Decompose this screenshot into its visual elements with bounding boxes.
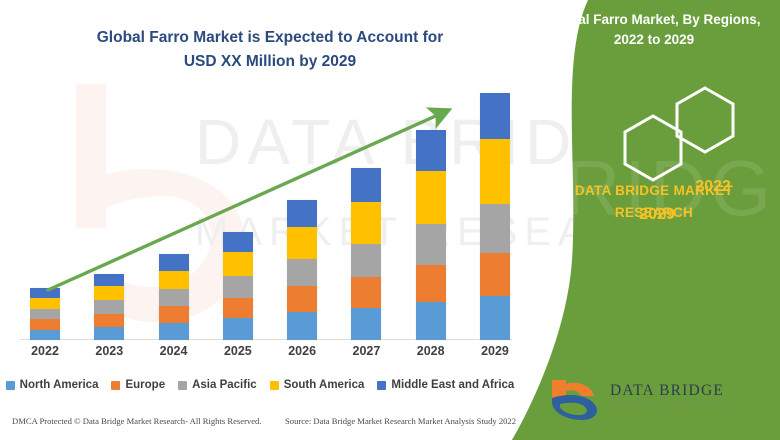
bar-segment[interactable] <box>351 202 381 243</box>
bar-segment[interactable] <box>351 168 381 203</box>
x-tick-2022: 2022 <box>30 344 60 366</box>
bar-segment[interactable] <box>159 254 189 270</box>
legend-swatch-icon <box>6 381 15 390</box>
bar-segment[interactable] <box>287 200 317 227</box>
footer-copyright: DMCA Protected © Data Bridge Market Rese… <box>12 416 262 426</box>
chart-title-line2: USD XX Million by 2029 <box>184 53 356 70</box>
bar-segment[interactable] <box>287 259 317 286</box>
x-axis-labels: 20222023202420252026202720282029 <box>30 344 510 366</box>
bar-segment[interactable] <box>416 171 446 224</box>
bar-segment[interactable] <box>94 274 124 286</box>
infographic-root: DATA BRIDGE MARKET RESEARCH BRIDGE Globa… <box>0 0 780 440</box>
bar-segment[interactable] <box>223 298 253 319</box>
legend-item[interactable]: Middle East and Africa <box>377 379 514 391</box>
legend-swatch-icon <box>111 381 120 390</box>
bar-segment[interactable] <box>30 288 60 298</box>
legend-label: North America <box>20 379 99 391</box>
bar-segment[interactable] <box>223 252 253 276</box>
hexagon-group: 2022 2029 <box>605 78 755 188</box>
data-bridge-logo: DATA BRIDGE MARKET RESEARCH <box>548 378 728 424</box>
logo-wordmark: DATA BRIDGE <box>610 382 724 400</box>
green-panel: Global Farro Market, By Regions, 2022 to… <box>520 0 780 440</box>
x-tick-2024: 2024 <box>159 344 189 366</box>
logo-b-icon <box>548 378 606 422</box>
legend-item[interactable]: Asia Pacific <box>178 379 257 391</box>
legend-swatch-icon <box>377 381 386 390</box>
legend-item[interactable]: South America <box>270 379 365 391</box>
footer: DMCA Protected © Data Bridge Market Rese… <box>0 416 540 436</box>
bar-2023[interactable] <box>94 274 124 340</box>
bar-segment[interactable] <box>94 327 124 340</box>
x-tick-2027: 2027 <box>351 344 381 366</box>
bar-2024[interactable] <box>159 254 189 340</box>
bar-segment[interactable] <box>480 204 510 254</box>
bar-2026[interactable] <box>287 200 317 340</box>
logo-subtitle: MARKET RESEARCH <box>611 401 725 409</box>
legend-label: Middle East and Africa <box>391 379 514 391</box>
bar-segment[interactable] <box>159 289 189 306</box>
bar-segment[interactable] <box>480 139 510 204</box>
legend-label: Europe <box>125 379 165 391</box>
bar-2025[interactable] <box>223 232 253 340</box>
bar-segment[interactable] <box>287 286 317 312</box>
x-tick-2023: 2023 <box>94 344 124 366</box>
chart-panel: Global Farro Market is Expected to Accou… <box>0 0 540 440</box>
bar-segment[interactable] <box>416 265 446 302</box>
legend-label: South America <box>284 379 365 391</box>
green-panel-title-line1: Global Farro Market, By Regions, <box>547 12 760 27</box>
bar-group <box>30 80 510 340</box>
bar-segment[interactable] <box>416 224 446 265</box>
bar-segment[interactable] <box>480 296 510 340</box>
bar-2029[interactable] <box>480 93 510 340</box>
chart-title: Global Farro Market is Expected to Accou… <box>60 26 480 74</box>
bar-segment[interactable] <box>159 323 189 340</box>
chart-legend: North AmericaEuropeAsia PacificSouth Ame… <box>0 374 520 396</box>
bar-segment[interactable] <box>94 300 124 314</box>
bar-segment[interactable] <box>30 319 60 330</box>
legend-label: Asia Pacific <box>192 379 257 391</box>
x-tick-2026: 2026 <box>287 344 317 366</box>
legend-swatch-icon <box>178 381 187 390</box>
bar-2022[interactable] <box>30 288 60 340</box>
hex-2022-shape <box>677 88 733 152</box>
bar-segment[interactable] <box>416 130 446 171</box>
bar-segment[interactable] <box>94 314 124 327</box>
bar-segment[interactable] <box>94 286 124 300</box>
bar-segment[interactable] <box>159 271 189 289</box>
brand-line2: RESEARCH <box>615 205 693 220</box>
legend-item[interactable]: North America <box>6 379 99 391</box>
plot-area <box>0 80 540 340</box>
bar-segment[interactable] <box>351 308 381 341</box>
bar-segment[interactable] <box>223 276 253 298</box>
bar-segment[interactable] <box>416 302 446 340</box>
bar-segment[interactable] <box>30 309 60 320</box>
bar-segment[interactable] <box>351 277 381 307</box>
hex-2029-shape <box>625 116 681 180</box>
bar-segment[interactable] <box>480 253 510 295</box>
bar-segment[interactable] <box>223 318 253 340</box>
bar-2028[interactable] <box>416 130 446 340</box>
bar-segment[interactable] <box>30 330 60 340</box>
bar-segment[interactable] <box>30 298 60 309</box>
green-panel-brand: DATA BRIDGE MARKET RESEARCH <box>538 180 770 223</box>
bar-segment[interactable] <box>351 244 381 278</box>
green-panel-title-line2: 2022 to 2029 <box>614 32 694 47</box>
chart-title-line1: Global Farro Market is Expected to Accou… <box>97 29 444 46</box>
x-tick-2025: 2025 <box>223 344 253 366</box>
x-tick-2028: 2028 <box>416 344 446 366</box>
bar-segment[interactable] <box>480 93 510 139</box>
legend-swatch-icon <box>270 381 279 390</box>
brand-line1: DATA BRIDGE MARKET <box>575 183 733 198</box>
x-tick-2029: 2029 <box>480 344 510 366</box>
bar-segment[interactable] <box>159 306 189 322</box>
green-panel-title: Global Farro Market, By Regions, 2022 to… <box>538 10 770 51</box>
bar-segment[interactable] <box>287 312 317 340</box>
legend-item[interactable]: Europe <box>111 379 165 391</box>
bar-segment[interactable] <box>287 227 317 258</box>
footer-source: Source: Data Bridge Market Research Mark… <box>285 416 516 426</box>
bar-2027[interactable] <box>351 168 381 340</box>
bar-segment[interactable] <box>223 232 253 253</box>
